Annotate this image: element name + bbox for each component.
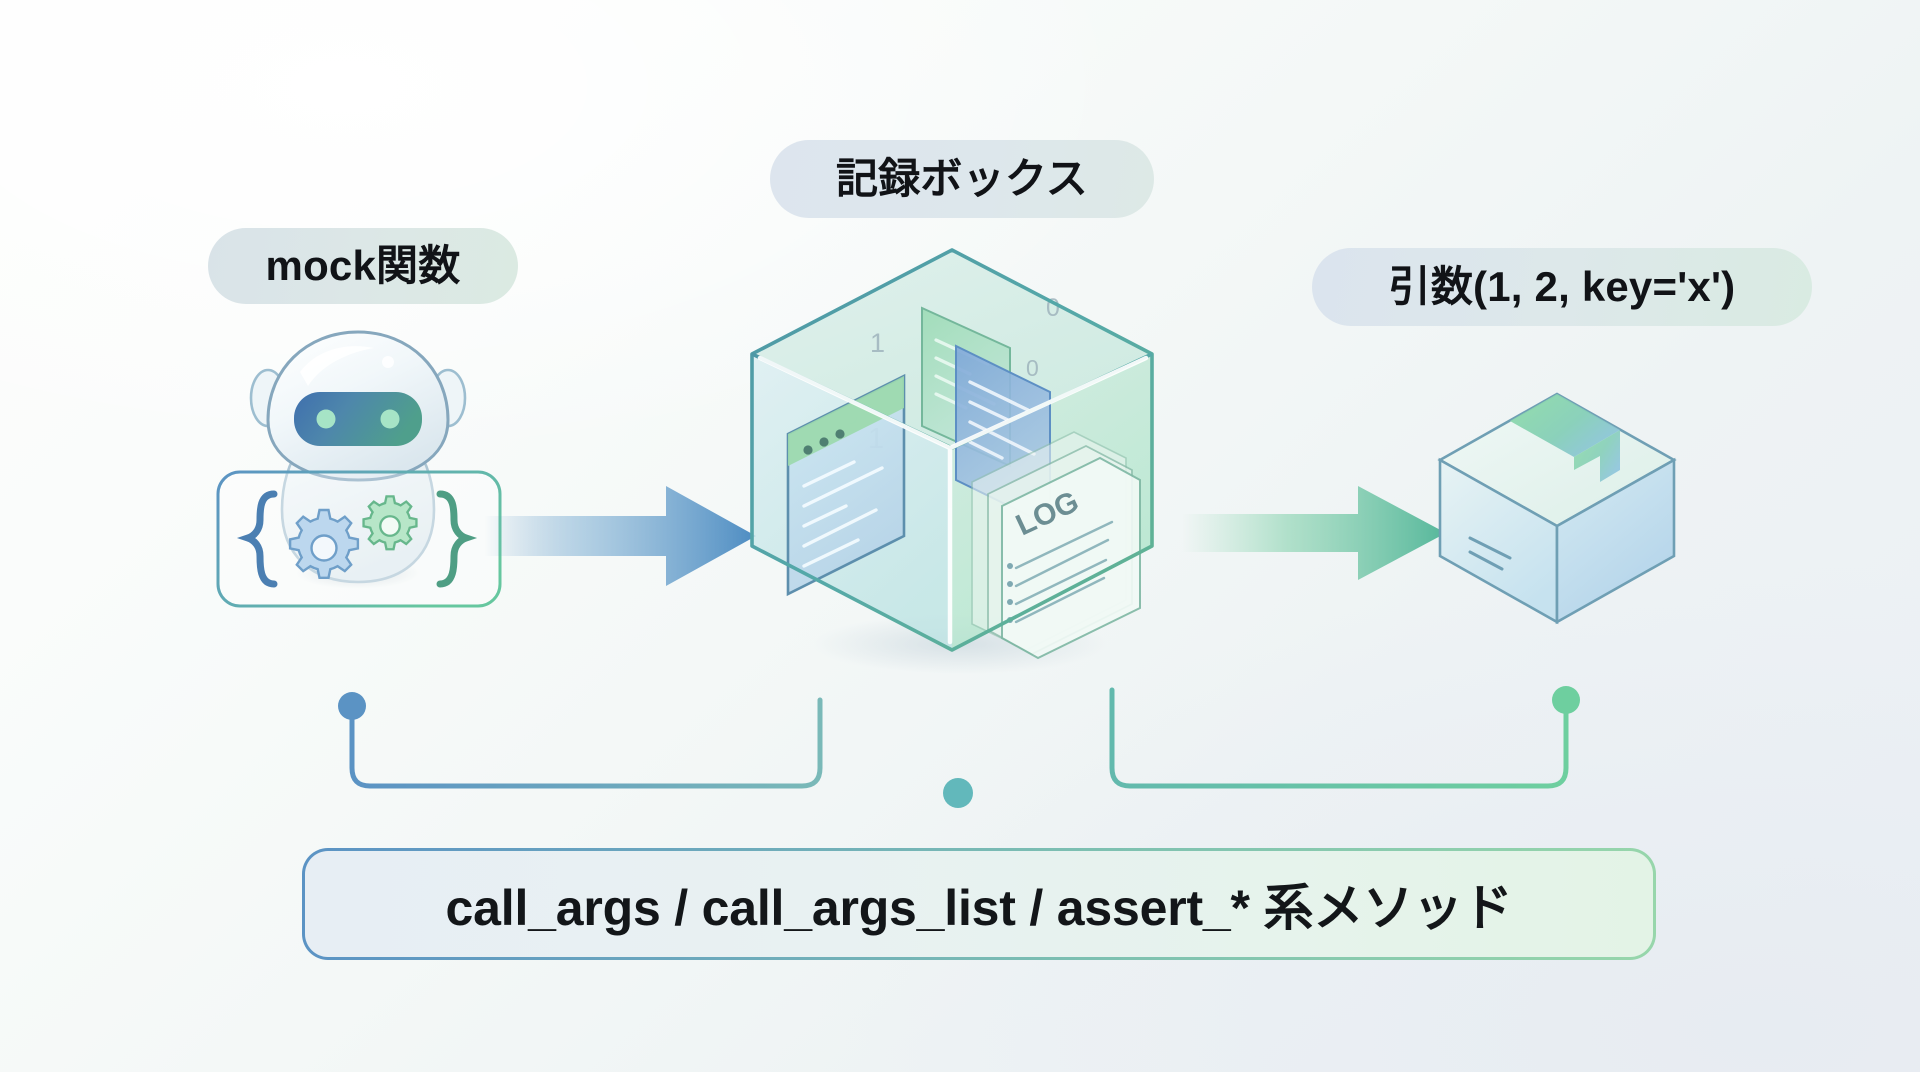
robot-head-glint xyxy=(382,356,394,368)
robot-icon xyxy=(212,320,512,650)
summary-bar: call_args / call_args_list / assert_* 系メ… xyxy=(302,848,1656,960)
robot-eye-right xyxy=(381,410,400,429)
arrow-right-icon xyxy=(484,476,760,596)
connector-right xyxy=(1112,690,1566,786)
summary-bar-inner: call_args / call_args_list / assert_* 系メ… xyxy=(305,851,1653,957)
package-box-icon xyxy=(1432,388,1682,628)
svg-text:0: 0 xyxy=(1026,355,1039,381)
robot-visor xyxy=(294,392,422,446)
node-dot-center xyxy=(943,778,973,808)
label-record-box-text: 記録ボックス xyxy=(836,158,1088,200)
label-record-box: 記録ボックス xyxy=(770,140,1154,218)
gear-icon xyxy=(290,510,358,578)
connector-left xyxy=(352,700,820,786)
label-arguments-text: 引数(1, 2, key='x') xyxy=(1389,266,1736,308)
summary-bar-text: call_args / call_args_list / assert_* 系メ… xyxy=(446,868,1513,940)
arrow-right-icon xyxy=(1182,478,1450,588)
label-mock-function: mock関数 xyxy=(208,228,518,304)
glass-cube-icon: 1 0 1 0 0 xyxy=(726,236,1172,686)
gear-icon xyxy=(364,496,417,549)
node-dot-left xyxy=(338,692,366,720)
svg-text:1: 1 xyxy=(870,328,885,358)
diagram-canvas: 1 0 1 0 0 xyxy=(0,0,1920,1072)
label-mock-function-text: mock関数 xyxy=(266,245,461,287)
robot-eye-left xyxy=(317,410,336,429)
node-dot-right xyxy=(1552,686,1580,714)
label-arguments: 引数(1, 2, key='x') xyxy=(1312,248,1812,326)
